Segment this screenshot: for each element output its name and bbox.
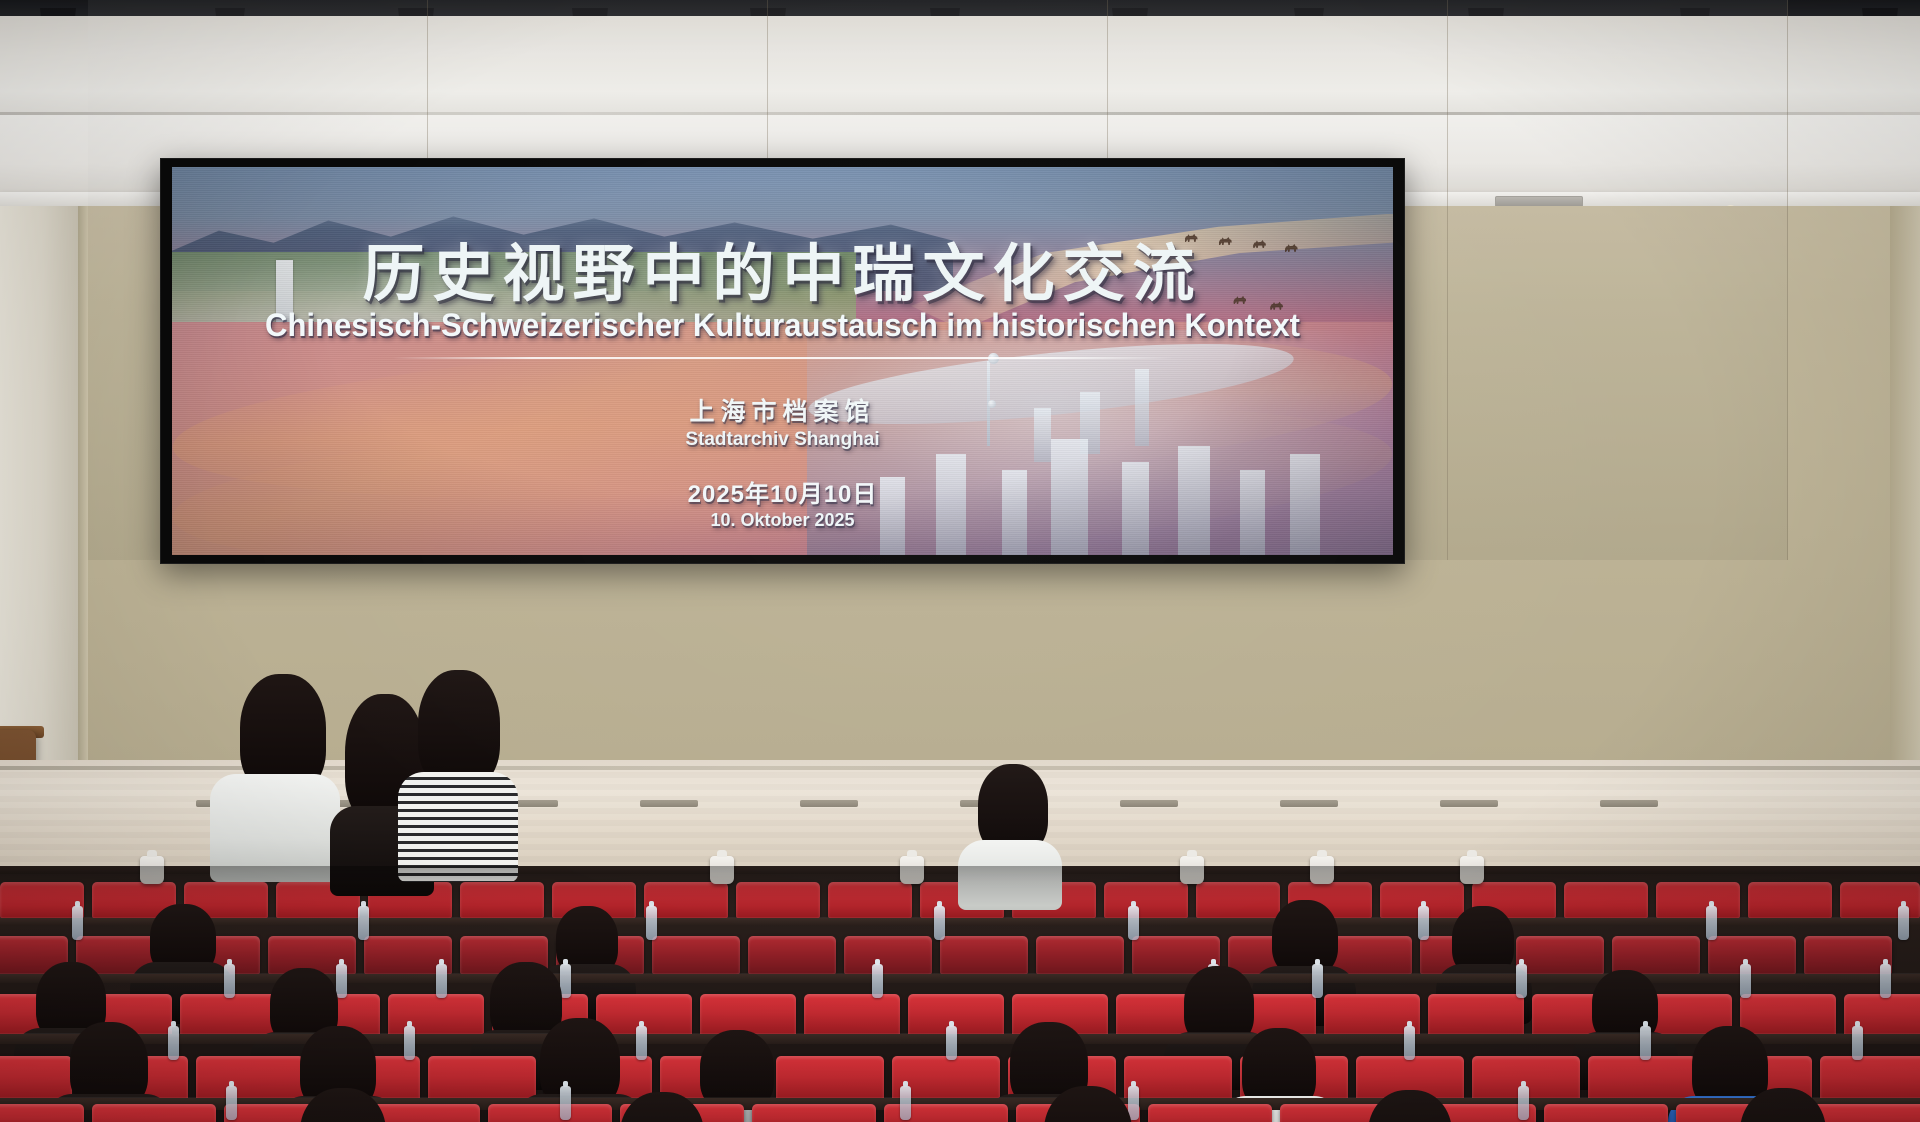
audience-seating-area (0, 866, 1920, 1122)
water-bottle (934, 906, 945, 940)
water-bottle (1706, 906, 1717, 940)
water-bottle (336, 964, 347, 998)
auditorium-seat[interactable] (776, 1056, 884, 1102)
water-bottle (636, 1026, 647, 1060)
tea-cup (1310, 856, 1334, 884)
floor-cable-slot (800, 800, 858, 807)
water-bottle (226, 1086, 237, 1120)
water-bottle (404, 1026, 415, 1060)
auditorium-seat[interactable] (828, 882, 912, 918)
auditorium-seat[interactable] (180, 994, 276, 1036)
auditorium-seat[interactable] (1516, 936, 1604, 974)
water-bottle (358, 906, 369, 940)
water-bottle (1898, 906, 1909, 940)
water-bottle (1740, 964, 1751, 998)
auditorium-seat[interactable] (700, 994, 796, 1036)
auditorium-seat[interactable] (1748, 882, 1832, 918)
water-bottle (1852, 1026, 1863, 1060)
water-bottle (1518, 1086, 1529, 1120)
auditorium-seat[interactable] (748, 936, 836, 974)
water-bottle (560, 1086, 571, 1120)
slide-title-german: Chinesisch-Schweizerischer Kulturaustaus… (190, 307, 1374, 344)
auditorium-seat[interactable] (804, 994, 900, 1036)
auditorium-seat[interactable] (1104, 882, 1188, 918)
auditorium-seat[interactable] (428, 1056, 536, 1102)
auditorium-seat[interactable] (92, 1104, 216, 1122)
auditorium-seat[interactable] (1804, 936, 1892, 974)
slide-divider-rule (392, 357, 1173, 359)
water-bottle (1404, 1026, 1415, 1060)
auditorium-seat[interactable] (1544, 1104, 1668, 1122)
floor-cable-slot (640, 800, 698, 807)
auditorium-seat[interactable] (1740, 994, 1836, 1036)
auditorium-seat[interactable] (196, 1056, 304, 1102)
auditorium-seat[interactable] (1564, 882, 1648, 918)
tea-cup (900, 856, 924, 884)
auditorium-scene: 历史视野中的中瑞文化交流 Chinesisch-Schweizerischer … (0, 0, 1920, 1122)
water-bottle (1516, 964, 1527, 998)
water-bottle (72, 906, 83, 940)
floor-cable-slot (1600, 800, 1658, 807)
water-bottle (872, 964, 883, 998)
auditorium-seat[interactable] (844, 936, 932, 974)
seat-row (0, 1104, 1920, 1122)
auditorium-seat[interactable] (1820, 1056, 1920, 1102)
water-bottle (646, 906, 657, 940)
seat-row (0, 924, 1920, 972)
auditorium-seat[interactable] (1196, 882, 1280, 918)
water-bottle (946, 1026, 957, 1060)
auditorium-seat[interactable] (460, 882, 544, 918)
event-date-chinese: 2025年10月10日 (172, 474, 1393, 509)
auditorium-seat[interactable] (652, 936, 740, 974)
floor-cable-slot (1440, 800, 1498, 807)
auditorium-seat[interactable] (1808, 1104, 1920, 1122)
auditorium-seat[interactable] (1656, 882, 1740, 918)
auditorium-seat[interactable] (1124, 1056, 1232, 1102)
auditorium-seat[interactable] (1588, 1056, 1696, 1102)
wall-left-pillar (0, 206, 78, 766)
water-bottle (1880, 964, 1891, 998)
slide-title-chinese: 历史视野中的中瑞文化交流 (172, 223, 1393, 313)
auditorium-seat[interactable] (388, 994, 484, 1036)
auditorium-seat[interactable] (1036, 936, 1124, 974)
auditorium-seat[interactable] (752, 1104, 876, 1122)
tea-cup (710, 856, 734, 884)
water-bottle (1640, 1026, 1651, 1060)
auditorium-seat[interactable] (1148, 1104, 1272, 1122)
water-bottle (1128, 906, 1139, 940)
seat-row (0, 1040, 1920, 1096)
led-presentation-screen[interactable]: 历史视野中的中瑞文化交流 Chinesisch-Schweizerischer … (172, 167, 1393, 555)
event-date-german: 10. Oktober 2025 (172, 510, 1393, 531)
water-bottle (1418, 906, 1429, 940)
auditorium-seat[interactable] (736, 882, 820, 918)
wall-panel (1448, 0, 1788, 560)
auditorium-seat[interactable] (488, 1104, 612, 1122)
auditorium-seat[interactable] (1612, 936, 1700, 974)
tea-cup (140, 856, 164, 884)
auditorium-seat[interactable] (940, 936, 1028, 974)
water-bottle (436, 964, 447, 998)
floor-cable-slot (1280, 800, 1338, 807)
auditorium-seat[interactable] (0, 1104, 84, 1122)
wall-left-pillar-edge (78, 206, 88, 766)
organization-name-german: Stadtarchiv Shanghai (172, 429, 1393, 451)
water-bottle (224, 964, 235, 998)
screen-text-block: 历史视野中的中瑞文化交流 Chinesisch-Schweizerischer … (172, 167, 1393, 555)
auditorium-seat[interactable] (1428, 994, 1524, 1036)
water-bottle (168, 1026, 179, 1060)
wall-right-pillar (1890, 206, 1920, 766)
water-bottle (1312, 964, 1323, 998)
organization-name-chinese: 上海市档案馆 (172, 392, 1393, 428)
auditorium-seat[interactable] (1708, 936, 1796, 974)
floor-cable-slot (1120, 800, 1178, 807)
tea-cup (1180, 856, 1204, 884)
tea-cup (1460, 856, 1484, 884)
water-bottle (900, 1086, 911, 1120)
